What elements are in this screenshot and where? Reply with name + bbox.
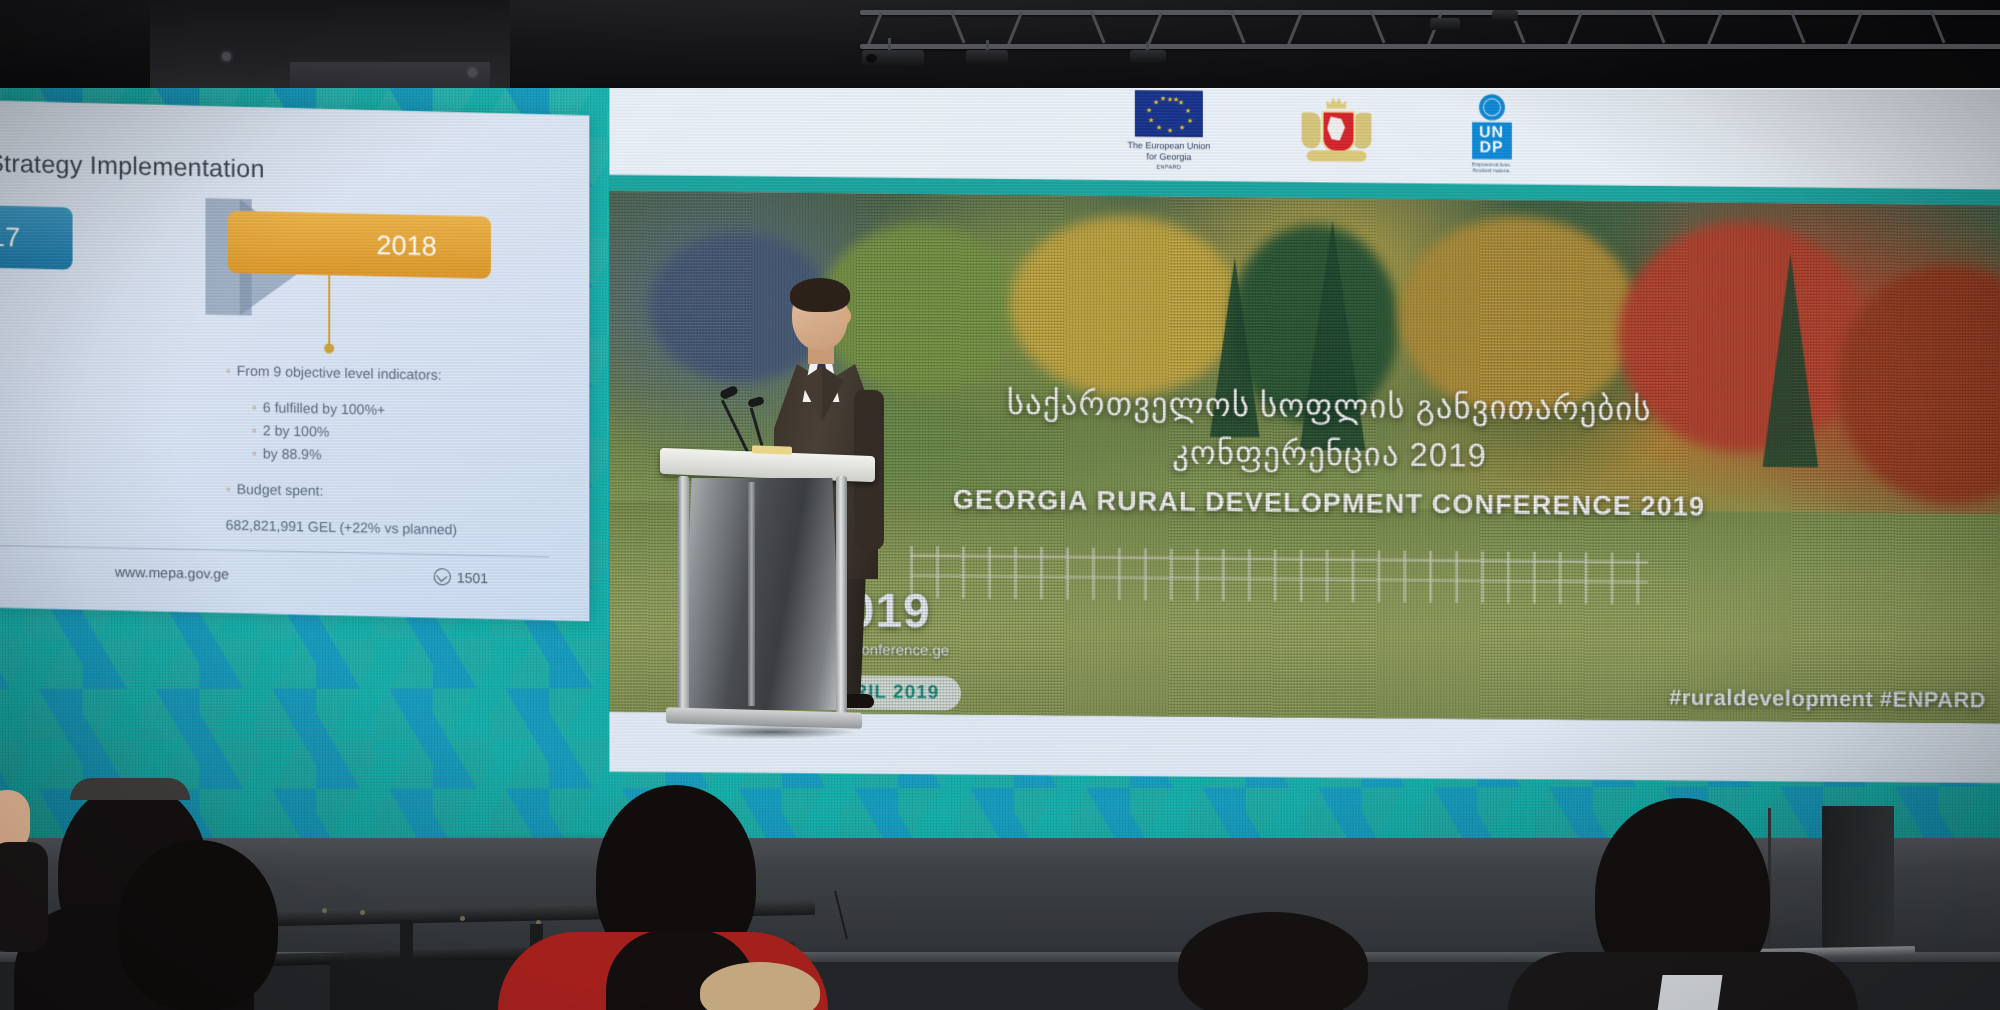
podium-left-rail [678, 476, 689, 716]
georgia-coat-of-arms-icon [1298, 92, 1374, 171]
slide-hotline: 1501 [434, 568, 488, 586]
year-2017-label: 2017 [0, 220, 20, 252]
podium-center-rail [748, 482, 755, 706]
enpard-label: ENPARD [1156, 165, 1181, 171]
conference-photo: ...ults of the Strategy Implementation 2… [0, 0, 2000, 1010]
slide-title: ...ults of the Strategy Implementation [0, 146, 551, 191]
undp-logo-block: UN DP Empowered lives. Resilient nations… [1462, 94, 1522, 174]
undp-caption-line2: Resilient nations. [1472, 168, 1511, 174]
podium-shadow [656, 724, 886, 740]
spotlight-icon [1492, 10, 1518, 21]
slide-footer-divider [0, 542, 549, 557]
lighting-truss [860, 0, 2000, 72]
georgia-coat-of-arms-block [1298, 92, 1374, 171]
undp-letters-line2: DP [1472, 140, 1512, 155]
indicators-column-2017: r level indicators: d by 100% or 100%+; … [0, 350, 99, 511]
phone-icon [434, 568, 451, 585]
audience-head [118, 840, 278, 1010]
spotlight-icon [966, 50, 1008, 64]
eu-flag-icon: ★ ★ ★ ★ ★ ★ ★ ★ ★ ★ ★ ★ [1135, 90, 1203, 137]
list-item: r level indicators: [0, 350, 99, 380]
indicators-column-2018: From 9 objective level indicators: 6 ful… [226, 359, 558, 543]
podium-right-rail [836, 476, 847, 716]
podium-notes [752, 445, 792, 454]
raised-arm [0, 842, 48, 952]
spotlight-icon [1130, 50, 1166, 63]
speaking-podium [660, 452, 875, 742]
logo-strip: ★ ★ ★ ★ ★ ★ ★ ★ ★ ★ ★ ★ The Europe [609, 88, 2000, 186]
undp-letters-line1: UN [1472, 125, 1512, 140]
undp-letters: UN DP [1472, 122, 1512, 159]
ceiling-light-icon [468, 68, 477, 77]
led-video-wall: ...ults of the Strategy Implementation 2… [0, 88, 2000, 848]
slide-website: www.mepa.gov.ge [115, 564, 229, 582]
ceiling-light-icon [222, 52, 231, 61]
spotlight-icon [1430, 18, 1460, 30]
year-tag-2018: 2018 [228, 211, 491, 279]
audience-collar [1657, 975, 1722, 1010]
stage-monitor [1822, 806, 1894, 956]
headphone-band [70, 778, 190, 800]
eu-caption-line2: for Georgia [1127, 151, 1210, 163]
undp-globe-icon [1479, 94, 1505, 120]
year-tag-2017: 2017 [0, 202, 73, 270]
hotline-number: 1501 [457, 569, 488, 586]
podium-body [682, 478, 842, 710]
eu-logo-block: ★ ★ ★ ★ ★ ★ ★ ★ ★ ★ ★ ★ The Europe [1127, 90, 1210, 171]
callout-stem-2018 [328, 275, 330, 345]
eu-caption: The European Union for Georgia [1127, 140, 1210, 163]
year-2018-label: 2018 [376, 230, 436, 262]
eu-caption-line1: The European Union [1127, 140, 1210, 152]
presentation-slide-left: ...ults of the Strategy Implementation 2… [0, 98, 589, 621]
undp-caption: Empowered lives. Resilient nations. [1472, 162, 1511, 174]
